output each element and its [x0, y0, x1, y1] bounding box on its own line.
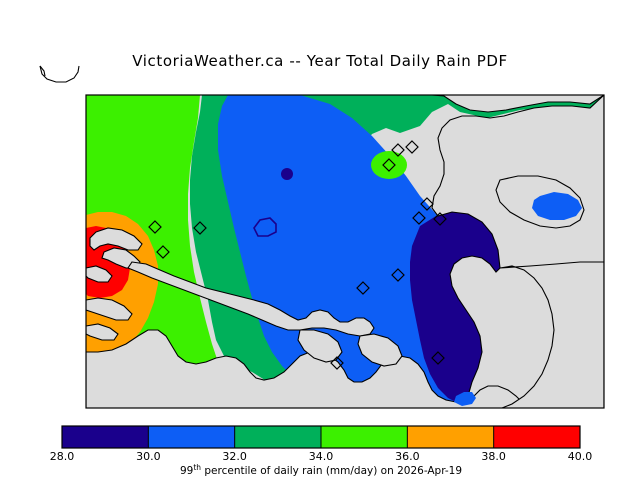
coastline-fragment-topleft	[40, 66, 79, 82]
colorbar-tick-label: 30.0	[136, 450, 161, 463]
colorbar-caption-prefix: 99	[180, 465, 193, 477]
colorbar-tick-label: 32.0	[222, 450, 247, 463]
colorbar-tick-label: 36.0	[395, 450, 420, 463]
colorbar-tick-label: 28.0	[50, 450, 75, 463]
colorbar-caption: 99th percentile of daily rain (mm/day) o…	[180, 463, 462, 477]
colorbar: 28.0 30.0 32.0 34.0 36.0 38.0 40.0 99th …	[0, 418, 640, 480]
colorbar-caption-rest: percentile of daily rain (mm/day) on 202…	[201, 465, 462, 477]
colorbar-tick-label: 38.0	[481, 450, 506, 463]
contour-blob-34-36-north	[371, 151, 407, 179]
screenshot-root: VictoriaWeather.ca -- Year Total Daily R…	[0, 0, 640, 480]
colorbar-band-30-32[interactable]	[148, 426, 234, 448]
colorbar-band-34-36[interactable]	[321, 426, 407, 448]
colorbar-band-36-38[interactable]	[407, 426, 493, 448]
colorbar-bands	[62, 426, 580, 448]
colorbar-band-28-30[interactable]	[62, 426, 148, 448]
colorbar-band-32-34[interactable]	[235, 426, 321, 448]
colorbar-band-38-40[interactable]	[494, 426, 580, 448]
map-contour-layer	[86, 95, 604, 408]
colorbar-tick-labels: 28.0 30.0 32.0 34.0 36.0 38.0 40.0	[50, 450, 593, 463]
colorbar-tick-label: 34.0	[309, 450, 334, 463]
weather-map	[0, 0, 640, 420]
contour-spot-28-30-central	[281, 168, 293, 180]
colorbar-tick-label: 40.0	[568, 450, 593, 463]
